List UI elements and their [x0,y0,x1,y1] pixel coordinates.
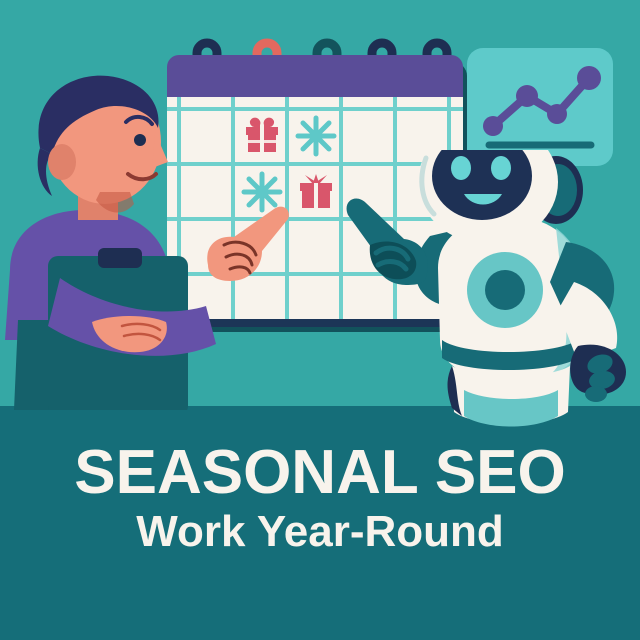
page-title: SEASONAL SEO [0,440,640,506]
page-subtitle: Work Year-Round [0,506,640,558]
person-eye [134,134,146,146]
seasonal-seo-illustration: SEASONAL SEO Work Year-Round [0,0,640,640]
chart-line [493,78,589,126]
robot-pointing-hand[interactable] [330,185,440,300]
title-block: SEASONAL SEO Work Year-Round [0,440,640,580]
clipboard-clip [98,248,142,268]
person-ear [48,144,76,180]
growth-chart-svg [467,48,613,166]
chart-point-1 [483,116,503,136]
snowflake-icon[interactable] [293,113,339,159]
chart-point-4 [577,66,601,90]
growth-chart-card[interactable] [467,48,613,166]
chart-point-2 [516,85,538,107]
robot-chest-core [485,270,525,310]
chart-point-3 [547,104,567,124]
person-pointing-hand[interactable] [200,195,320,305]
robot-eye-left [451,156,471,180]
robot-eye-right [491,156,511,180]
